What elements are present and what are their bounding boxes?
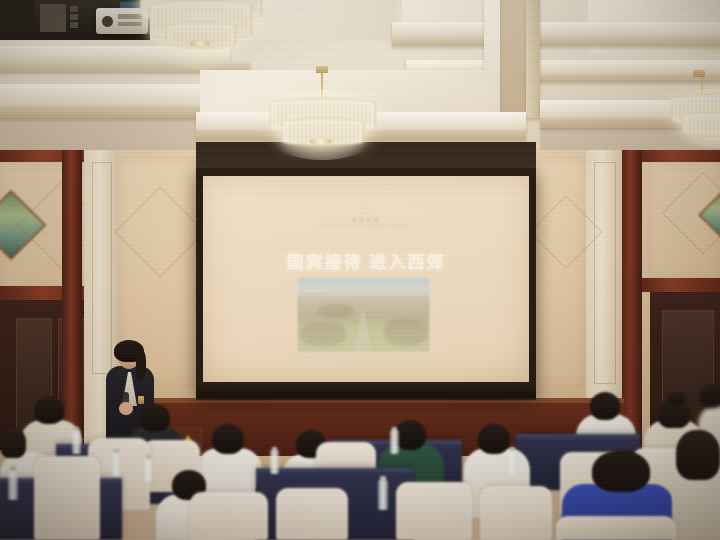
name-badge [138, 396, 144, 404]
chair-cover-1 [34, 456, 100, 540]
chair-cover-4 [276, 488, 348, 540]
center-wall-panel-right [536, 156, 586, 386]
hotel-logo-latin: XIJIAO STATE GUEST HOTEL [203, 224, 529, 229]
chair-cover-5 [396, 482, 472, 540]
hotel-logo-chinese: 西郊宾馆 [203, 217, 529, 224]
chandelier-center [266, 66, 378, 150]
chair-cover-front-blue [556, 516, 676, 540]
slide-logo: ⌂ 西郊宾馆 XIJIAO STATE GUEST HOTEL [203, 202, 529, 229]
right-pilaster-inlay [594, 162, 616, 384]
hotel-logo-mark: ⌂ [203, 202, 529, 217]
conference-photo: ⌂ 西郊宾馆 XIJIAO STATE GUEST HOTEL 国宾接待 进入西… [0, 0, 720, 540]
eyeglasses [119, 353, 139, 359]
screen-bottom-bar [196, 382, 536, 398]
chandelier-upper-left [140, 0, 260, 64]
slide-title: 国宾接待 进入西郊 [203, 248, 529, 273]
chair-cover-6 [480, 486, 552, 540]
left-mahogany-column [62, 150, 82, 450]
slide-aerial-photo [297, 277, 430, 353]
chandelier-right [672, 70, 720, 140]
chair-cover-3 [190, 492, 268, 540]
